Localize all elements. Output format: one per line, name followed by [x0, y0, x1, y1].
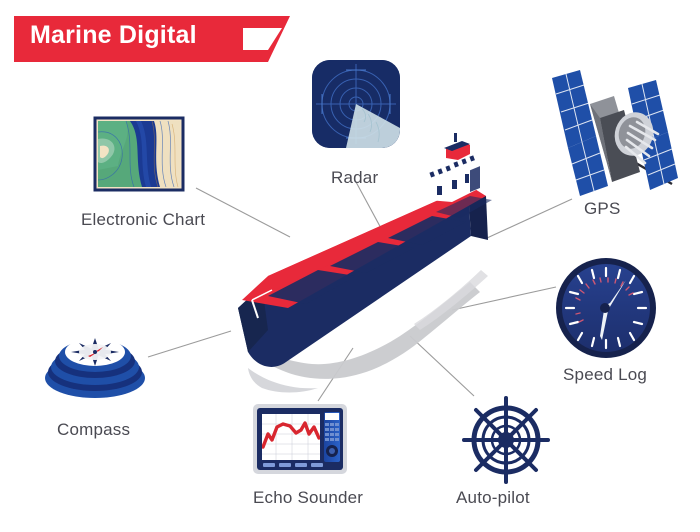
label-electronic-chart: Electronic Chart	[81, 211, 205, 228]
brand-name: Marine Digital	[30, 23, 197, 48]
ship-superstructure	[424, 133, 490, 202]
label-compass: Compass	[57, 421, 130, 438]
solar-panel-left	[552, 70, 596, 148]
connector-gps	[487, 199, 572, 238]
label-speed-log: Speed Log	[563, 366, 647, 383]
label-gps: GPS	[584, 200, 621, 217]
label-radar: Radar	[331, 169, 378, 186]
ships-wheel-icon	[464, 398, 548, 482]
nautical-chart-icon	[95, 118, 183, 190]
connector-compass	[148, 331, 231, 357]
satellite-icon	[552, 70, 678, 196]
compass-icon	[45, 338, 145, 398]
label-auto-pilot: Auto-pilot	[456, 489, 530, 506]
marine-digital-infographic: Marine Digital Electronic Chart Radar GP…	[0, 0, 700, 532]
label-echo-sounder: Echo Sounder	[253, 489, 363, 506]
infographic-canvas	[0, 0, 700, 532]
connector-auto-pilot	[410, 336, 474, 396]
radar-icon	[312, 60, 400, 148]
gauge-icon	[556, 258, 656, 358]
echo-sounder-icon	[253, 404, 347, 474]
connector-electronic-chart	[196, 188, 290, 237]
